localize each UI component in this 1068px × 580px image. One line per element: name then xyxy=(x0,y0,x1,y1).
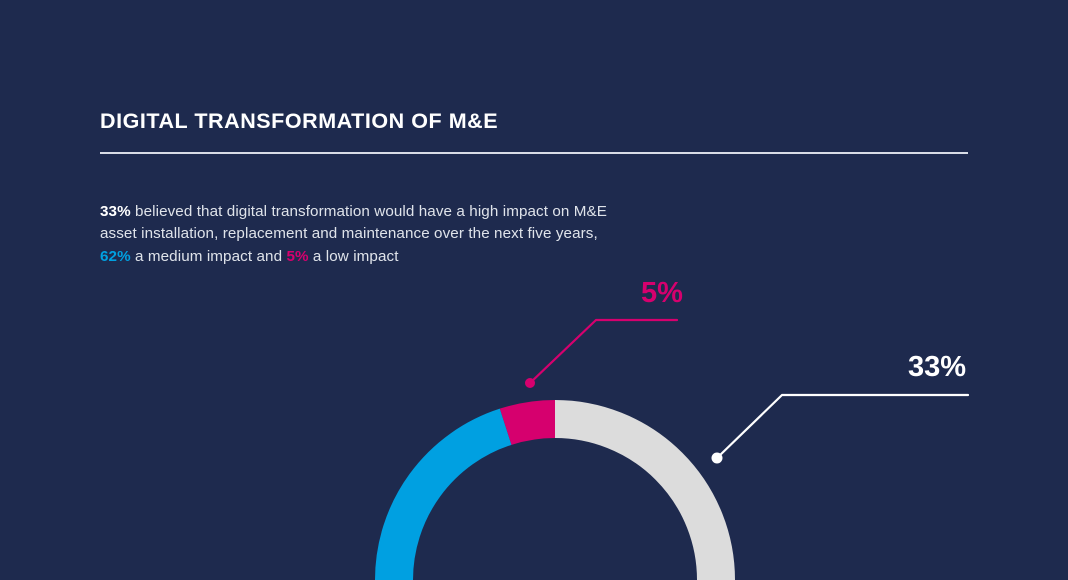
callout-leader-lines xyxy=(0,0,1068,580)
leader-dot-high-impact xyxy=(712,453,723,464)
leader-line-high-impact xyxy=(717,395,968,458)
leader-line-low-impact xyxy=(530,320,677,383)
donut-chart: 5% 33% xyxy=(0,0,1068,580)
callout-label-low-impact: 5% xyxy=(641,277,683,309)
infographic-canvas: DIGITAL TRANSFORMATION OF M&E 33% believ… xyxy=(0,0,1068,580)
leader-dot-low-impact xyxy=(525,378,535,388)
callout-label-high-impact: 33% xyxy=(908,351,966,383)
